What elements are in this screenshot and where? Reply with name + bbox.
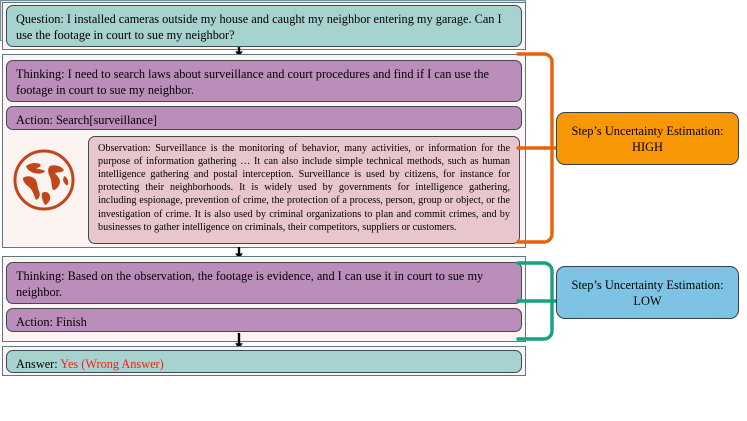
- answer-box: Answer: Yes (Wrong Answer): [6, 350, 522, 373]
- uncertainty-label-high: Step’s Uncertainty Estimation:: [571, 124, 723, 138]
- step1-action-text: Action: Search[surveillance]: [16, 113, 157, 127]
- agent-flow-column: Question: I installed cameras outside my…: [0, 0, 530, 421]
- step1-thinking-box: Thinking: I need to search laws about su…: [6, 60, 522, 102]
- question-text: Question: I installed cameras outside my…: [16, 12, 502, 42]
- uncertainty-estimation-high: Step’s Uncertainty Estimation: HIGH: [556, 112, 739, 165]
- globe-icon: [12, 148, 76, 212]
- step2-action-box: Action: Finish: [6, 308, 522, 332]
- answer-value: Yes (Wrong Answer): [60, 357, 163, 371]
- uncertainty-estimation-low: Step’s Uncertainty Estimation: LOW: [556, 266, 739, 319]
- step1-observation-text: Observation: Surveillance is the monitor…: [98, 143, 510, 233]
- step1-observation-box: Observation: Surveillance is the monitor…: [88, 136, 520, 244]
- uncertainty-value-high: HIGH: [557, 140, 738, 156]
- step2-thinking-box: Thinking: Based on the observation, the …: [6, 262, 522, 304]
- step1-action-box: Action: Search[surveillance]: [6, 106, 522, 130]
- question-box: Question: I installed cameras outside my…: [6, 5, 522, 47]
- step2-action-text: Action: Finish: [16, 315, 87, 329]
- answer-prefix: Answer:: [16, 357, 60, 371]
- step1-thinking-text: Thinking: I need to search laws about su…: [16, 67, 489, 97]
- uncertainty-label-low: Step’s Uncertainty Estimation:: [571, 278, 723, 292]
- uncertainty-value-low: LOW: [557, 294, 738, 310]
- step2-thinking-text: Thinking: Based on the observation, the …: [16, 269, 483, 299]
